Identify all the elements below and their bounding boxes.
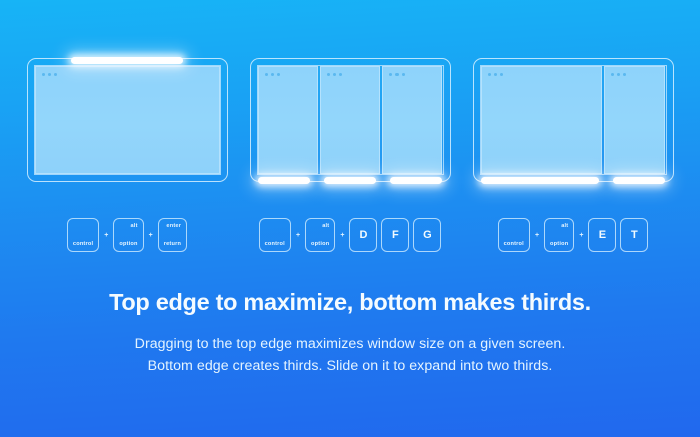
plus-separator: +	[103, 232, 109, 239]
key-label-bottom: control	[504, 241, 524, 247]
traffic-light-dot	[389, 73, 392, 76]
plus-separator: +	[339, 232, 345, 239]
traffic-light-dot	[488, 73, 491, 76]
traffic-light-dot	[395, 73, 398, 76]
traffic-light-dot	[54, 73, 57, 76]
traffic-light-dot	[617, 73, 620, 76]
traffic-light-dot	[611, 73, 614, 76]
key-e[interactable]: E	[588, 218, 616, 252]
traffic-light-dot	[333, 73, 336, 76]
window-tile	[320, 66, 380, 174]
screen-illustrations	[0, 58, 700, 184]
key-label: D	[359, 230, 367, 241]
screen-maximize	[27, 58, 228, 182]
key-t[interactable]: T	[620, 218, 648, 252]
key-label-bottom: control	[73, 241, 93, 247]
snap-highlight-bar-bottom	[481, 177, 598, 184]
key-label: T	[631, 230, 638, 241]
key-label-top: enter	[164, 223, 181, 229]
screen-thirds	[250, 58, 451, 182]
key-label-bottom: option	[119, 241, 137, 247]
screen-two-thirds-and-third	[473, 58, 674, 182]
key-return[interactable]: enterreturn	[158, 218, 187, 252]
shortcut-group-thirds: control+altoption+DFG	[250, 205, 451, 265]
snap-highlight-bar-bottom	[390, 177, 442, 184]
snap-highlight-bar-bottom	[613, 177, 665, 184]
traffic-lights-icon	[611, 73, 627, 76]
snap-highlight-bar-bottom	[258, 177, 310, 184]
shortcut-group-two-thirds-and-third: control+altoption+ET	[473, 205, 674, 265]
key-g[interactable]: G	[413, 218, 441, 252]
traffic-light-dot	[500, 73, 503, 76]
screen-canvas	[480, 65, 667, 175]
traffic-light-dot	[402, 73, 405, 76]
key-control[interactable]: control	[498, 218, 530, 252]
traffic-lights-icon	[265, 73, 281, 76]
key-label-top: alt	[119, 223, 137, 229]
key-label-bottom: option	[311, 241, 329, 247]
window-tile	[481, 66, 602, 174]
traffic-lights-icon	[42, 73, 58, 76]
traffic-light-dot	[271, 73, 274, 76]
key-d[interactable]: D	[349, 218, 377, 252]
snap-highlight-bar-bottom	[324, 177, 376, 184]
traffic-light-dot	[623, 73, 626, 76]
key-label: F	[392, 230, 399, 241]
traffic-light-dot	[327, 73, 330, 76]
screen-canvas	[257, 65, 444, 175]
traffic-lights-icon	[389, 73, 405, 76]
traffic-lights-icon	[488, 73, 504, 76]
key-label: G	[423, 230, 432, 241]
key-option[interactable]: altoption	[305, 218, 335, 252]
plus-separator: +	[578, 232, 584, 239]
traffic-light-dot	[339, 73, 342, 76]
key-label-top: alt	[311, 223, 329, 229]
page-description: Dragging to the top edge maximizes windo…	[0, 333, 700, 377]
key-label: E	[599, 230, 606, 241]
description-line-1: Dragging to the top edge maximizes windo…	[0, 333, 700, 355]
plus-separator: +	[148, 232, 154, 239]
plus-separator: +	[534, 232, 540, 239]
traffic-light-dot	[277, 73, 280, 76]
plus-separator: +	[295, 232, 301, 239]
traffic-lights-icon	[327, 73, 343, 76]
key-label-bottom: option	[550, 241, 568, 247]
snap-highlight-bar-top	[71, 57, 182, 64]
traffic-light-dot	[48, 73, 51, 76]
key-option[interactable]: altoption	[113, 218, 143, 252]
traffic-light-dot	[42, 73, 45, 76]
traffic-light-dot	[494, 73, 497, 76]
traffic-light-dot	[265, 73, 268, 76]
window-tile	[35, 66, 220, 174]
key-option[interactable]: altoption	[544, 218, 574, 252]
page-title: Top edge to maximize, bottom makes third…	[0, 288, 700, 316]
screen-canvas	[34, 65, 221, 175]
shortcut-group-maximize: control+altoption+enterreturn	[27, 205, 228, 265]
keyboard-shortcut-rows: control+altoption+enterreturncontrol+alt…	[0, 205, 700, 265]
key-label-top: alt	[550, 223, 568, 229]
key-control[interactable]: control	[67, 218, 99, 252]
window-tile	[258, 66, 318, 174]
window-tile	[382, 66, 442, 174]
key-label-bottom: return	[164, 241, 181, 247]
key-control[interactable]: control	[259, 218, 291, 252]
key-f[interactable]: F	[381, 218, 409, 252]
description-line-2: Bottom edge creates thirds. Slide on it …	[0, 355, 700, 377]
window-tile	[604, 66, 666, 174]
key-label-bottom: control	[265, 241, 285, 247]
